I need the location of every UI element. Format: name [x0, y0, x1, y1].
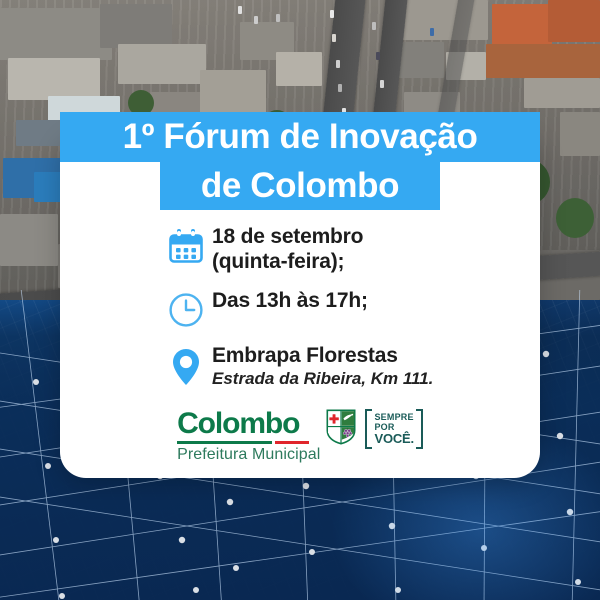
logo-wordmark: Colombo [177, 409, 320, 439]
slogan-bracket-left [365, 409, 372, 449]
date-line-1: 18 de setembro [212, 224, 363, 249]
slogan-line-3: VOCÊ. [374, 432, 413, 446]
detail-row-place: Embrapa Florestas Estrada da Ribeira, Km… [160, 343, 520, 390]
colombo-city-logo: Colombo Prefeitura Municipal [60, 409, 540, 464]
event-details-list: 18 de setembro (quinta-feira); Das 13h à… [160, 224, 520, 404]
logo-rule-green [177, 441, 272, 444]
detail-row-date: 18 de setembro (quinta-feira); [160, 224, 520, 274]
colombo-coat-of-arms-icon [326, 409, 356, 445]
time-line-1: Das 13h às 17h; [212, 288, 368, 313]
detail-text-place: Embrapa Florestas Estrada da Ribeira, Km… [212, 343, 433, 390]
calendar-icon [160, 224, 212, 265]
detail-row-time: Das 13h às 17h; [160, 288, 520, 329]
place-address: Estrada da Ribeira, Km 111. [212, 368, 433, 390]
logo-wordmark-block: Colombo Prefeitura Municipal [177, 409, 324, 464]
logo-subtitle: Prefeitura Municipal [177, 446, 320, 464]
slogan-line-1: SEMPRE [374, 412, 413, 422]
detail-text-time: Das 13h às 17h; [212, 288, 368, 313]
place-name: Embrapa Florestas [212, 343, 433, 368]
detail-text-date: 18 de setembro (quinta-feira); [212, 224, 363, 274]
event-poster: 18 de setembro (quinta-feira); Das 13h à… [0, 0, 600, 600]
logo-slogan: SEMPRE POR VOCÊ. [365, 409, 422, 449]
title-banner-line-1: 1º Fórum de Inovação [60, 112, 540, 162]
logo-rule [177, 441, 309, 444]
date-line-2: (quinta-feira); [212, 249, 363, 274]
map-pin-icon [160, 343, 212, 388]
clock-icon [160, 288, 212, 329]
slogan-bracket-right [416, 409, 423, 449]
logo-rule-red [275, 441, 309, 444]
title-banner-line-2: de Colombo [160, 162, 440, 210]
